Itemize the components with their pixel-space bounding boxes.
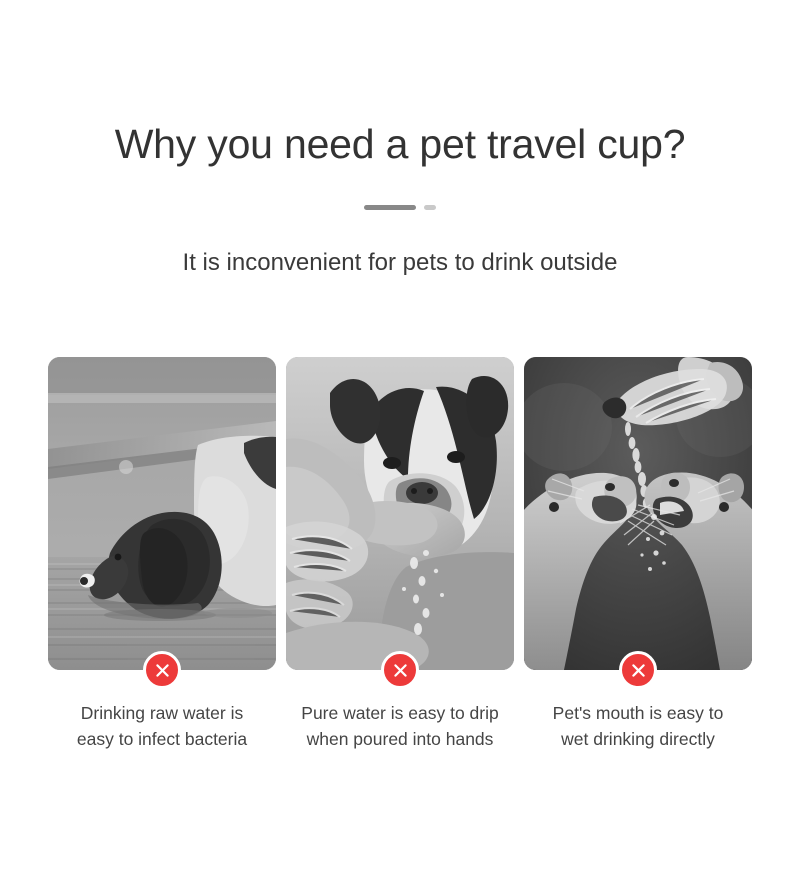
x-cross-icon bbox=[143, 651, 181, 689]
card-caption: Drinking raw water is easy to infect bac… bbox=[48, 700, 276, 752]
feature-card: Pure water is easy to drip when poured i… bbox=[286, 357, 514, 752]
caption-line-2: easy to infect bacteria bbox=[48, 726, 276, 752]
card-caption: Pure water is easy to drip when poured i… bbox=[286, 700, 514, 752]
x-cross-icon bbox=[381, 651, 419, 689]
dog-drinking-raw-water-photo bbox=[48, 357, 276, 670]
caption-line-1: Drinking raw water is bbox=[48, 700, 276, 726]
dogs-drinking-from-bottle-photo bbox=[524, 357, 752, 670]
feature-card: Pet's mouth is easy to wet drinking dire… bbox=[524, 357, 752, 752]
feature-card: Drinking raw water is easy to infect bac… bbox=[48, 357, 276, 752]
divider-bar-long bbox=[364, 205, 416, 210]
page-title: Why you need a pet travel cup? bbox=[0, 118, 800, 170]
title-divider bbox=[0, 205, 800, 210]
x-cross-icon bbox=[619, 651, 657, 689]
feature-card-row: Drinking raw water is easy to infect bac… bbox=[48, 357, 753, 752]
caption-line-2: wet drinking directly bbox=[524, 726, 752, 752]
product-feature-page: Why you need a pet travel cup? It is inc… bbox=[0, 0, 800, 884]
dog-drinking-from-hand-photo bbox=[286, 357, 514, 670]
card-caption: Pet's mouth is easy to wet drinking dire… bbox=[524, 700, 752, 752]
caption-line-1: Pure water is easy to drip bbox=[286, 700, 514, 726]
divider-bar-short bbox=[424, 205, 436, 210]
caption-line-1: Pet's mouth is easy to bbox=[524, 700, 752, 726]
page-subtitle: It is inconvenient for pets to drink out… bbox=[0, 247, 800, 279]
caption-line-2: when poured into hands bbox=[286, 726, 514, 752]
